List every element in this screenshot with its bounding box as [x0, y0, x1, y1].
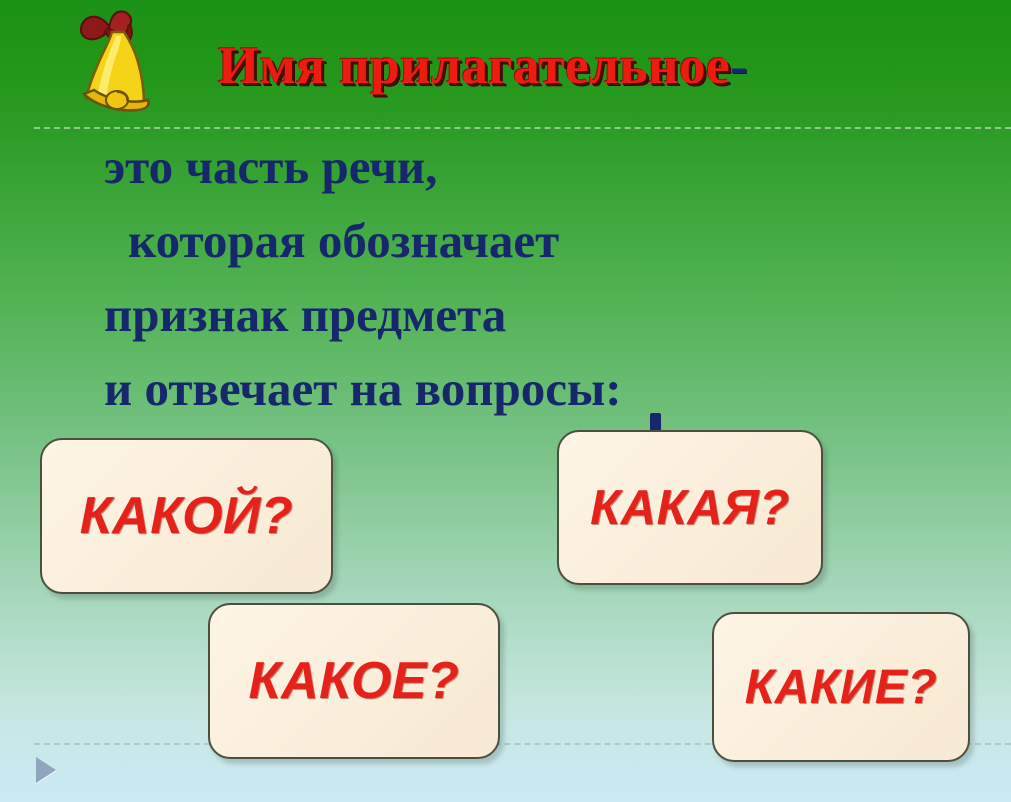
- question-card-label: КАКОЙ?: [80, 486, 293, 546]
- question-card-label: КАКИЕ?: [745, 660, 938, 715]
- slide-title-dash: -: [730, 37, 748, 95]
- question-card-kakoy[interactable]: КАКОЙ?: [40, 438, 333, 594]
- presentation-slide: Имя прилагательное- это часть речи, кото…: [0, 0, 1011, 802]
- definition-line-3: признак предмета: [0, 278, 1011, 352]
- question-card-label: КАКАЯ?: [590, 480, 790, 536]
- question-card-label: КАКОЕ?: [249, 651, 460, 711]
- definition-line-1: это часть речи,: [0, 130, 1011, 204]
- slide-title: Имя прилагательное-: [218, 40, 748, 93]
- definition-line-2: которая обозначает: [0, 204, 1011, 278]
- question-card-kakie[interactable]: КАКИЕ?: [712, 612, 970, 762]
- top-dashed-divider: [34, 127, 1011, 129]
- school-bell-icon: [72, 6, 178, 118]
- question-card-kakoe[interactable]: КАКОЕ?: [208, 603, 500, 759]
- definition-line-4: и отвечает на вопросы:: [0, 352, 1011, 426]
- play-triangle-icon[interactable]: [36, 757, 56, 783]
- definition-text: это часть речи, которая обозначает призн…: [0, 130, 1011, 426]
- question-card-kakaya[interactable]: КАКАЯ?: [557, 430, 823, 585]
- slide-title-text: Имя прилагательное: [218, 37, 730, 95]
